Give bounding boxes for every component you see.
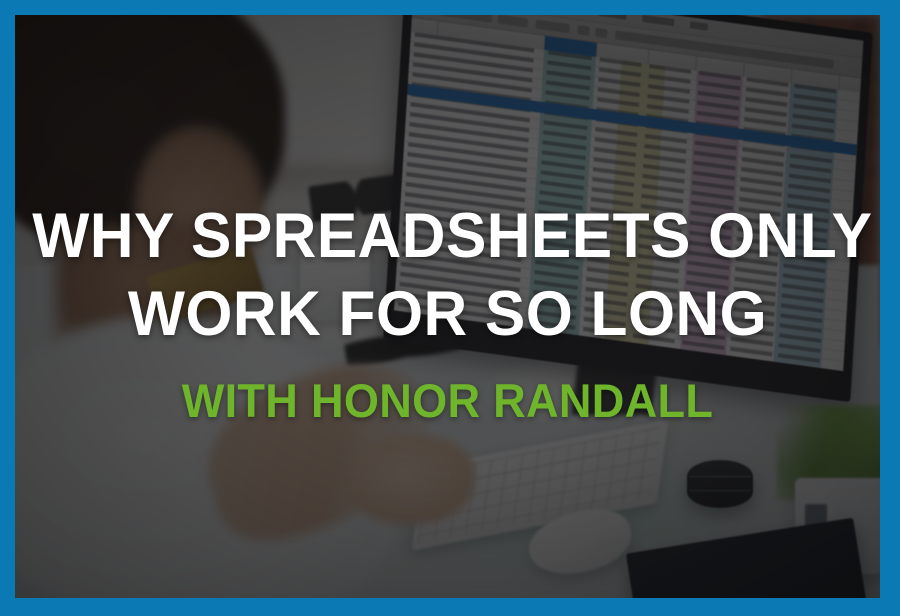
vignette	[15, 15, 880, 598]
background-photo	[15, 15, 880, 598]
title-card: WHY SPREADSHEETS ONLY WORK FOR SO LONG W…	[0, 0, 900, 616]
